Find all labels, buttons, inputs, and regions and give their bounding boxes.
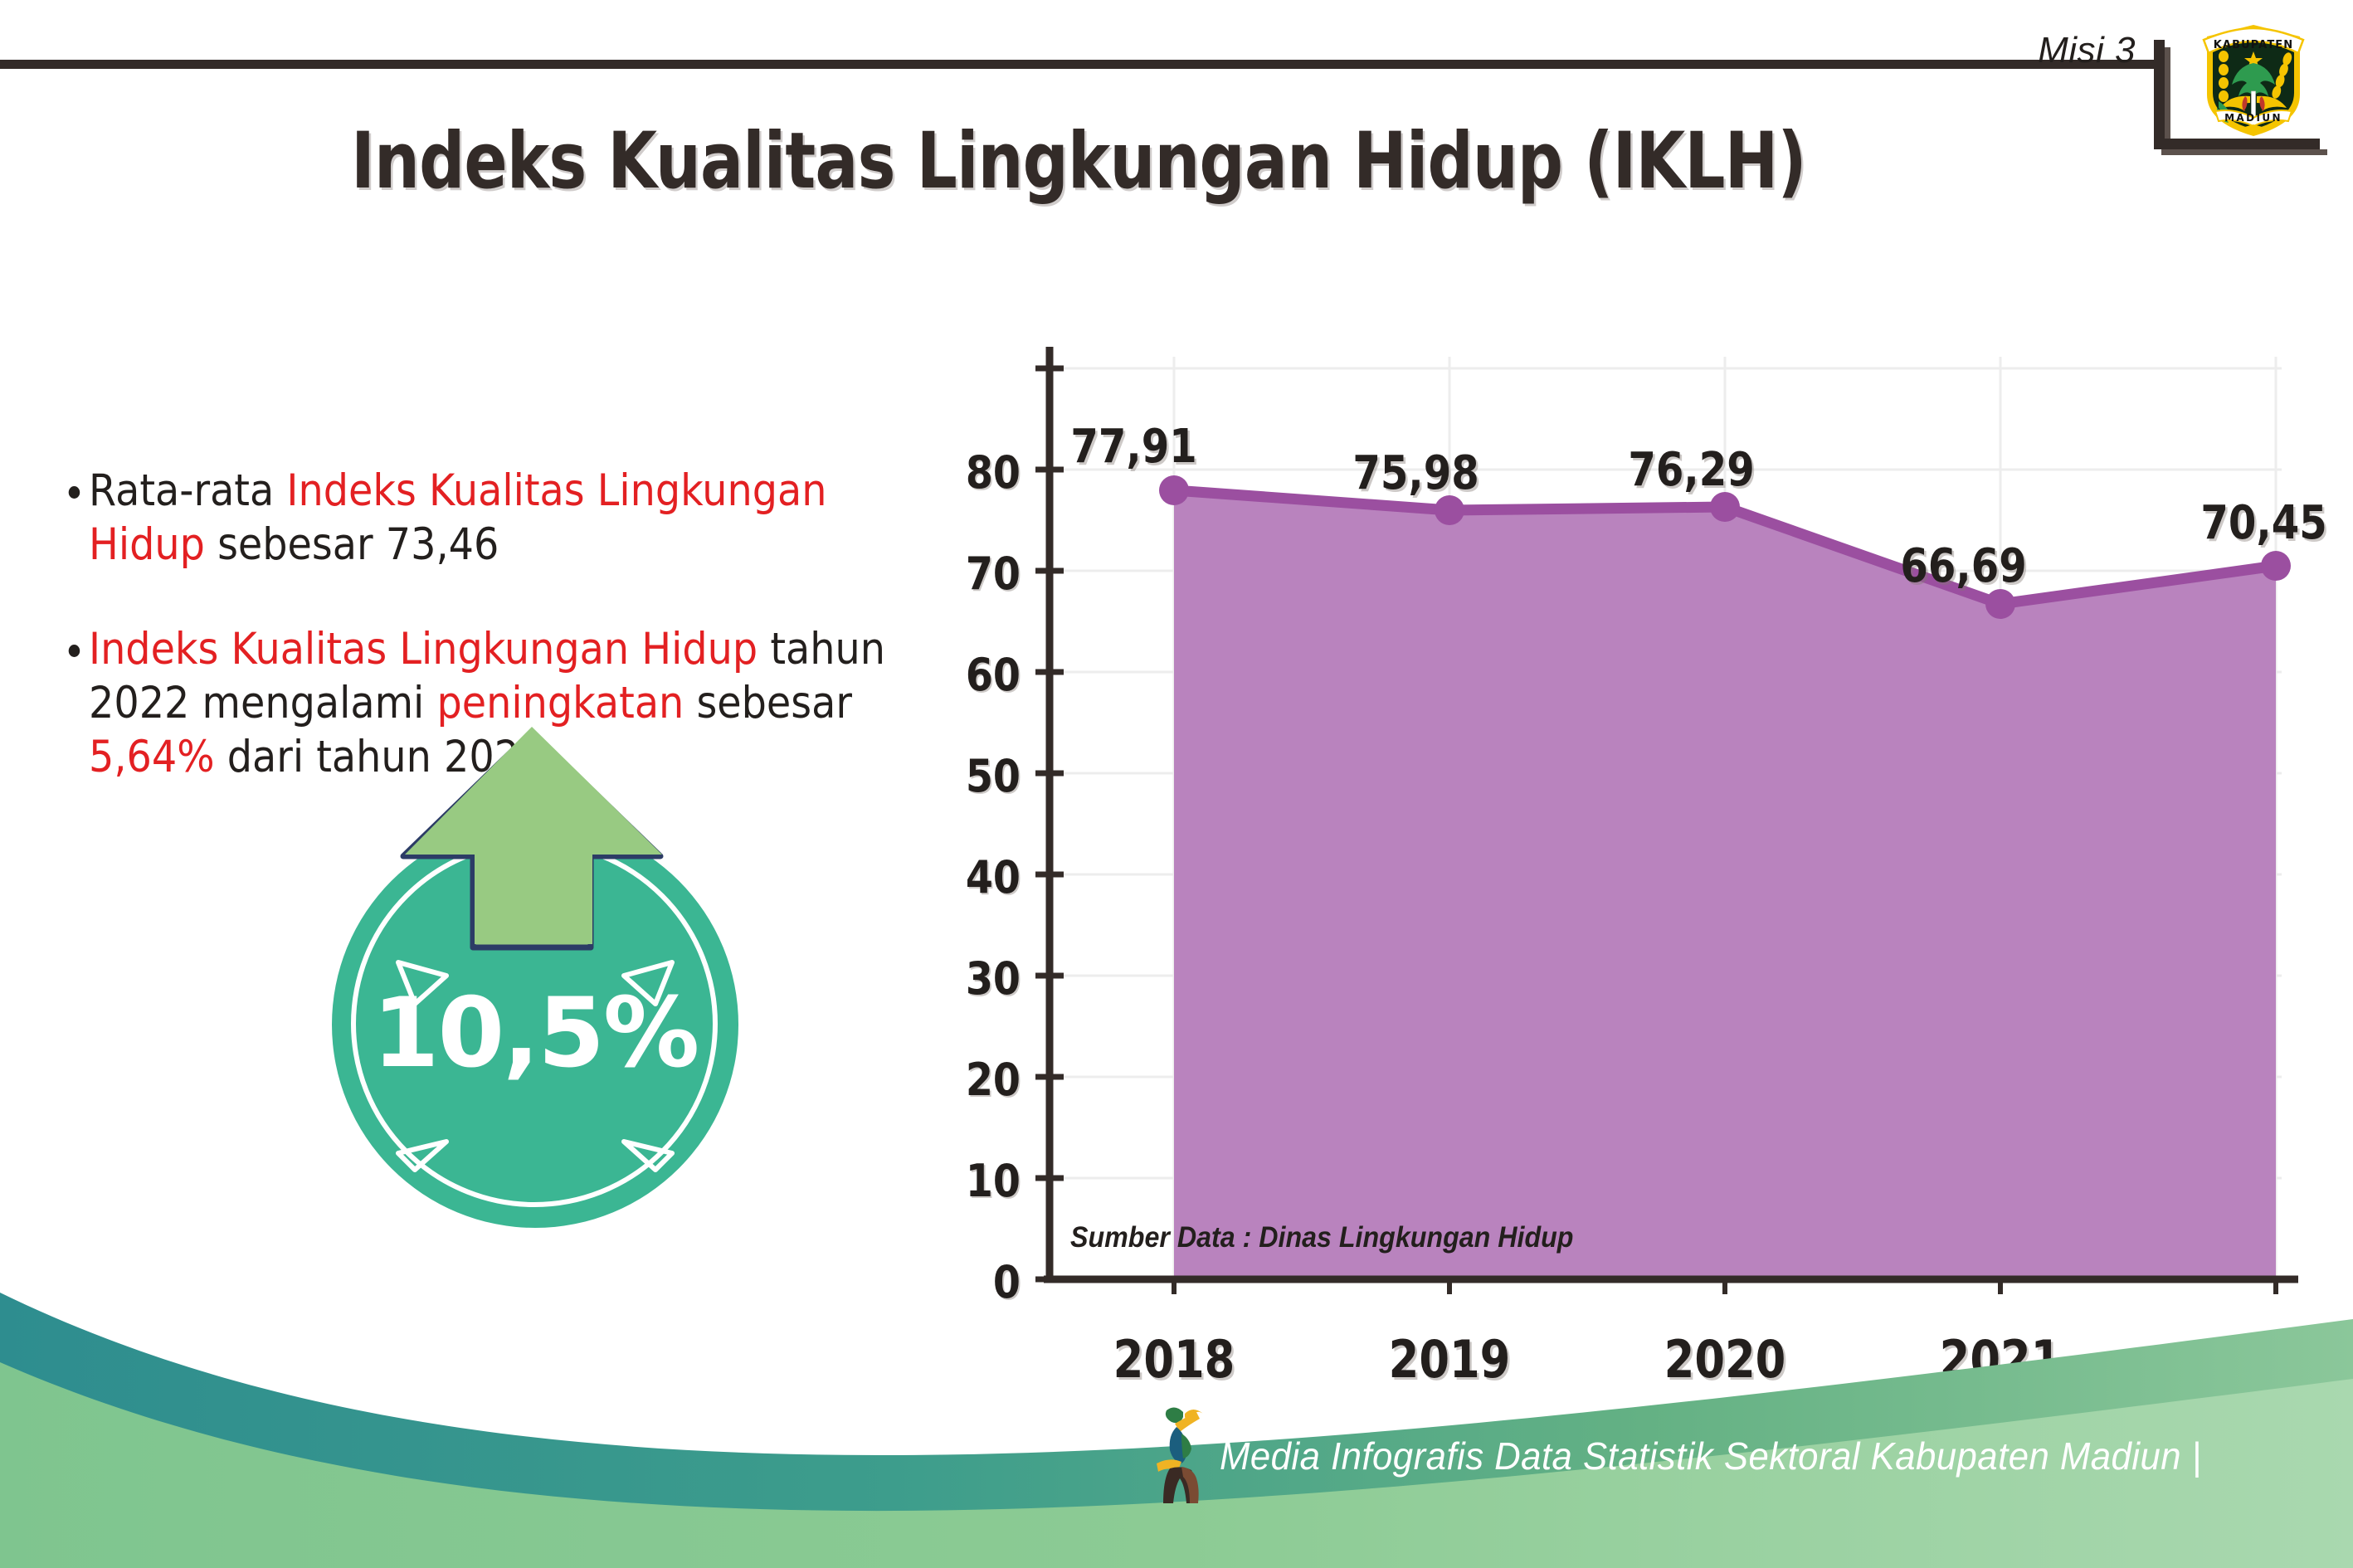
- data-label: 66,69: [1900, 539, 2026, 593]
- bullet-text-0: Rata-rata Indeks Kualitas Lingkungan Hid…: [89, 465, 826, 570]
- y-tick-label: 30: [918, 952, 1021, 1005]
- data-label: 75,98: [1352, 446, 1479, 500]
- y-tick-label: 70: [918, 548, 1021, 600]
- header-rule: [0, 60, 2164, 69]
- badge-value-text: 10,5%: [332, 977, 738, 1089]
- page-title: Indeks Kualitas Lingkungan Hidup (IKLH): [194, 116, 1963, 207]
- statistics-mascot-icon: [1145, 1399, 1221, 1507]
- footer-caption: Media Infografis Data Statistik Sektoral…: [1220, 1434, 2202, 1478]
- chart-source-note: Sumber Data : Dinas Lingkungan Hidup: [1070, 1221, 1573, 1254]
- y-tick-label: 10: [918, 1155, 1021, 1207]
- svg-text:MADIUN: MADIUN: [2224, 112, 2282, 124]
- y-tick-label: 40: [918, 851, 1021, 903]
- increase-badge: 10,5%: [332, 821, 738, 1228]
- y-tick-label: 60: [918, 649, 1021, 701]
- iklh-area-chart: 0 10 20 30 40 50 60 70 80 2018 2019 2020…: [954, 274, 2298, 1294]
- list-item: Rata-rata Indeks Kualitas Lingkungan Hid…: [66, 465, 888, 572]
- y-tick-label: 80: [918, 446, 1021, 499]
- bracket-vertical-shadow: [2165, 47, 2170, 149]
- kabupaten-madiun-logo-icon: KABUPATEN MADIUN: [2199, 15, 2308, 139]
- data-label: 77,91: [1070, 420, 1196, 474]
- bullet-dot-icon: [69, 645, 80, 657]
- mission-label: Misi 3: [2038, 30, 2136, 71]
- bullet-dot-icon: [69, 486, 80, 499]
- bracket-horizontal: [2154, 139, 2320, 149]
- y-tick-label: 20: [918, 1054, 1021, 1106]
- svg-text:KABUPATEN: KABUPATEN: [2214, 39, 2294, 51]
- bracket-vertical: [2154, 40, 2165, 149]
- data-label: 76,29: [1628, 443, 1754, 497]
- data-label: 70,45: [2200, 496, 2326, 550]
- y-tick-label: 50: [918, 750, 1021, 802]
- bracket-horizontal-shadow: [2161, 149, 2327, 155]
- chart-area-fill: [1174, 490, 2276, 1279]
